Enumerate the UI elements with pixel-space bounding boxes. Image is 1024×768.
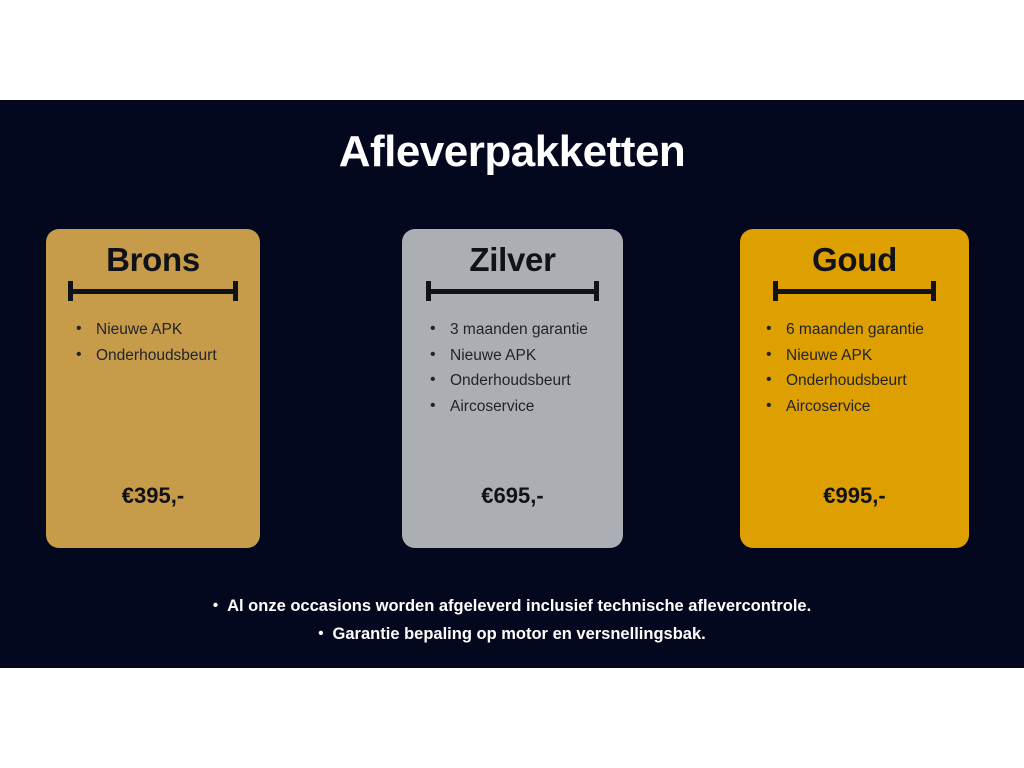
- divider-cap-right: [931, 281, 936, 301]
- footer-note-2: •Garantie bepaling op motor en versnelli…: [0, 620, 1024, 648]
- bullet-icon: •: [213, 592, 218, 619]
- package-title-goud: Goud: [740, 241, 969, 279]
- package-card-goud[interactable]: Goud 6 maanden garantie Nieuwe APK Onder…: [740, 229, 969, 548]
- package-price-brons: €395,-: [46, 483, 260, 509]
- list-item: Nieuwe APK: [428, 343, 649, 369]
- package-price-zilver: €695,-: [402, 483, 623, 509]
- divider-bar: [68, 289, 238, 294]
- feature-list-brons: Nieuwe APK Onderhoudsbeurt: [46, 317, 288, 368]
- footer-notes: •Al onze occasions worden afgeleverd inc…: [0, 592, 1024, 648]
- footer-note-2-text: Garantie bepaling op motor en versnellin…: [333, 625, 706, 643]
- footer-note-1-text: Al onze occasions worden afgeleverd incl…: [227, 597, 811, 615]
- slide-root: Afleverpakketten Brons Nieuwe APK Onderh…: [0, 0, 1024, 768]
- divider-bar: [426, 289, 599, 294]
- feature-list-zilver: 3 maanden garantie Nieuwe APK Onderhouds…: [402, 317, 649, 419]
- divider-ibeam-brons: [68, 281, 238, 301]
- feature-list-goud: 6 maanden garantie Nieuwe APK Onderhouds…: [740, 317, 993, 419]
- divider-bar: [773, 289, 936, 294]
- package-card-brons[interactable]: Brons Nieuwe APK Onderhoudsbeurt €395,-: [46, 229, 260, 548]
- list-item: 3 maanden garantie: [428, 317, 649, 343]
- list-item: 6 maanden garantie: [764, 317, 993, 343]
- package-title-zilver: Zilver: [402, 241, 623, 279]
- list-item: Aircoservice: [428, 394, 649, 420]
- list-item: Onderhoudsbeurt: [74, 343, 288, 369]
- package-title-brons: Brons: [46, 241, 260, 279]
- list-item: Onderhoudsbeurt: [428, 368, 649, 394]
- package-card-zilver[interactable]: Zilver 3 maanden garantie Nieuwe APK Ond…: [402, 229, 623, 548]
- divider-cap-right: [594, 281, 599, 301]
- package-price-goud: €995,-: [740, 483, 969, 509]
- divider-ibeam-zilver: [426, 281, 599, 301]
- list-item: Onderhoudsbeurt: [764, 368, 993, 394]
- list-item: Nieuwe APK: [764, 343, 993, 369]
- bullet-icon: •: [318, 620, 323, 647]
- footer-note-1: •Al onze occasions worden afgeleverd inc…: [0, 592, 1024, 620]
- divider-cap-right: [233, 281, 238, 301]
- page-title: Afleverpakketten: [0, 127, 1024, 177]
- list-item: Nieuwe APK: [74, 317, 288, 343]
- list-item: Aircoservice: [764, 394, 993, 420]
- divider-ibeam-goud: [773, 281, 936, 301]
